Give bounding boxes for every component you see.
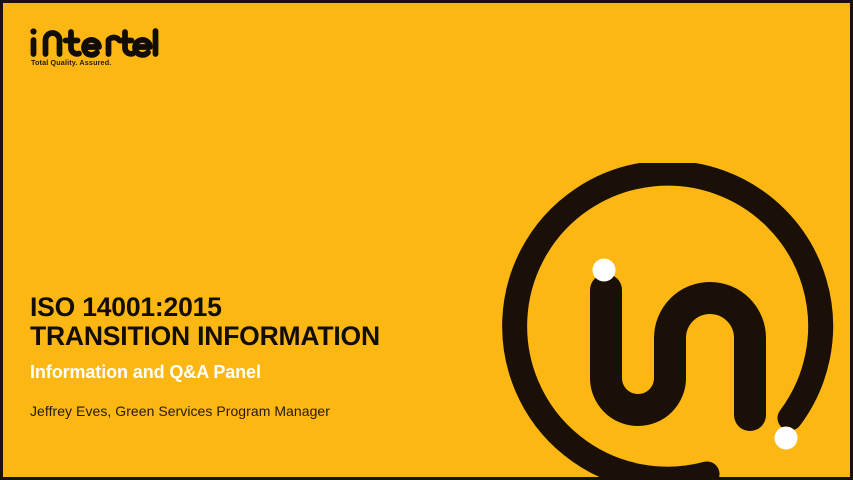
slide-frame: Total Quality. Assured. ISO 14001:2015 T…: [0, 0, 853, 480]
in-letterform: [606, 290, 750, 415]
monogram-svg: [468, 163, 850, 477]
presenter-line: Jeffrey Eves, Green Services Program Man…: [30, 402, 500, 420]
page-title-line-2: TRANSITION INFORMATION: [30, 322, 500, 351]
brand-logo: Total Quality. Assured.: [29, 28, 239, 76]
brand-tagline: Total Quality. Assured.: [31, 59, 111, 66]
wordmark-i-dot-icon: [30, 28, 36, 34]
slide-canvas: Total Quality. Assured. ISO 14001:2015 T…: [3, 3, 850, 477]
slide-subtitle: Information and Q&A Panel: [30, 361, 500, 383]
ring-arc: [515, 173, 821, 477]
i-dot-icon: [593, 259, 616, 282]
page-title-line-1: ISO 14001:2015: [30, 293, 500, 322]
intertek-wordmark-icon: [29, 28, 159, 58]
title-block: ISO 14001:2015 TRANSITION INFORMATION In…: [30, 293, 500, 420]
accent-dot-icon: [775, 427, 798, 450]
wordmark-svg: [29, 28, 159, 58]
intertek-in-monogram: [468, 163, 850, 477]
